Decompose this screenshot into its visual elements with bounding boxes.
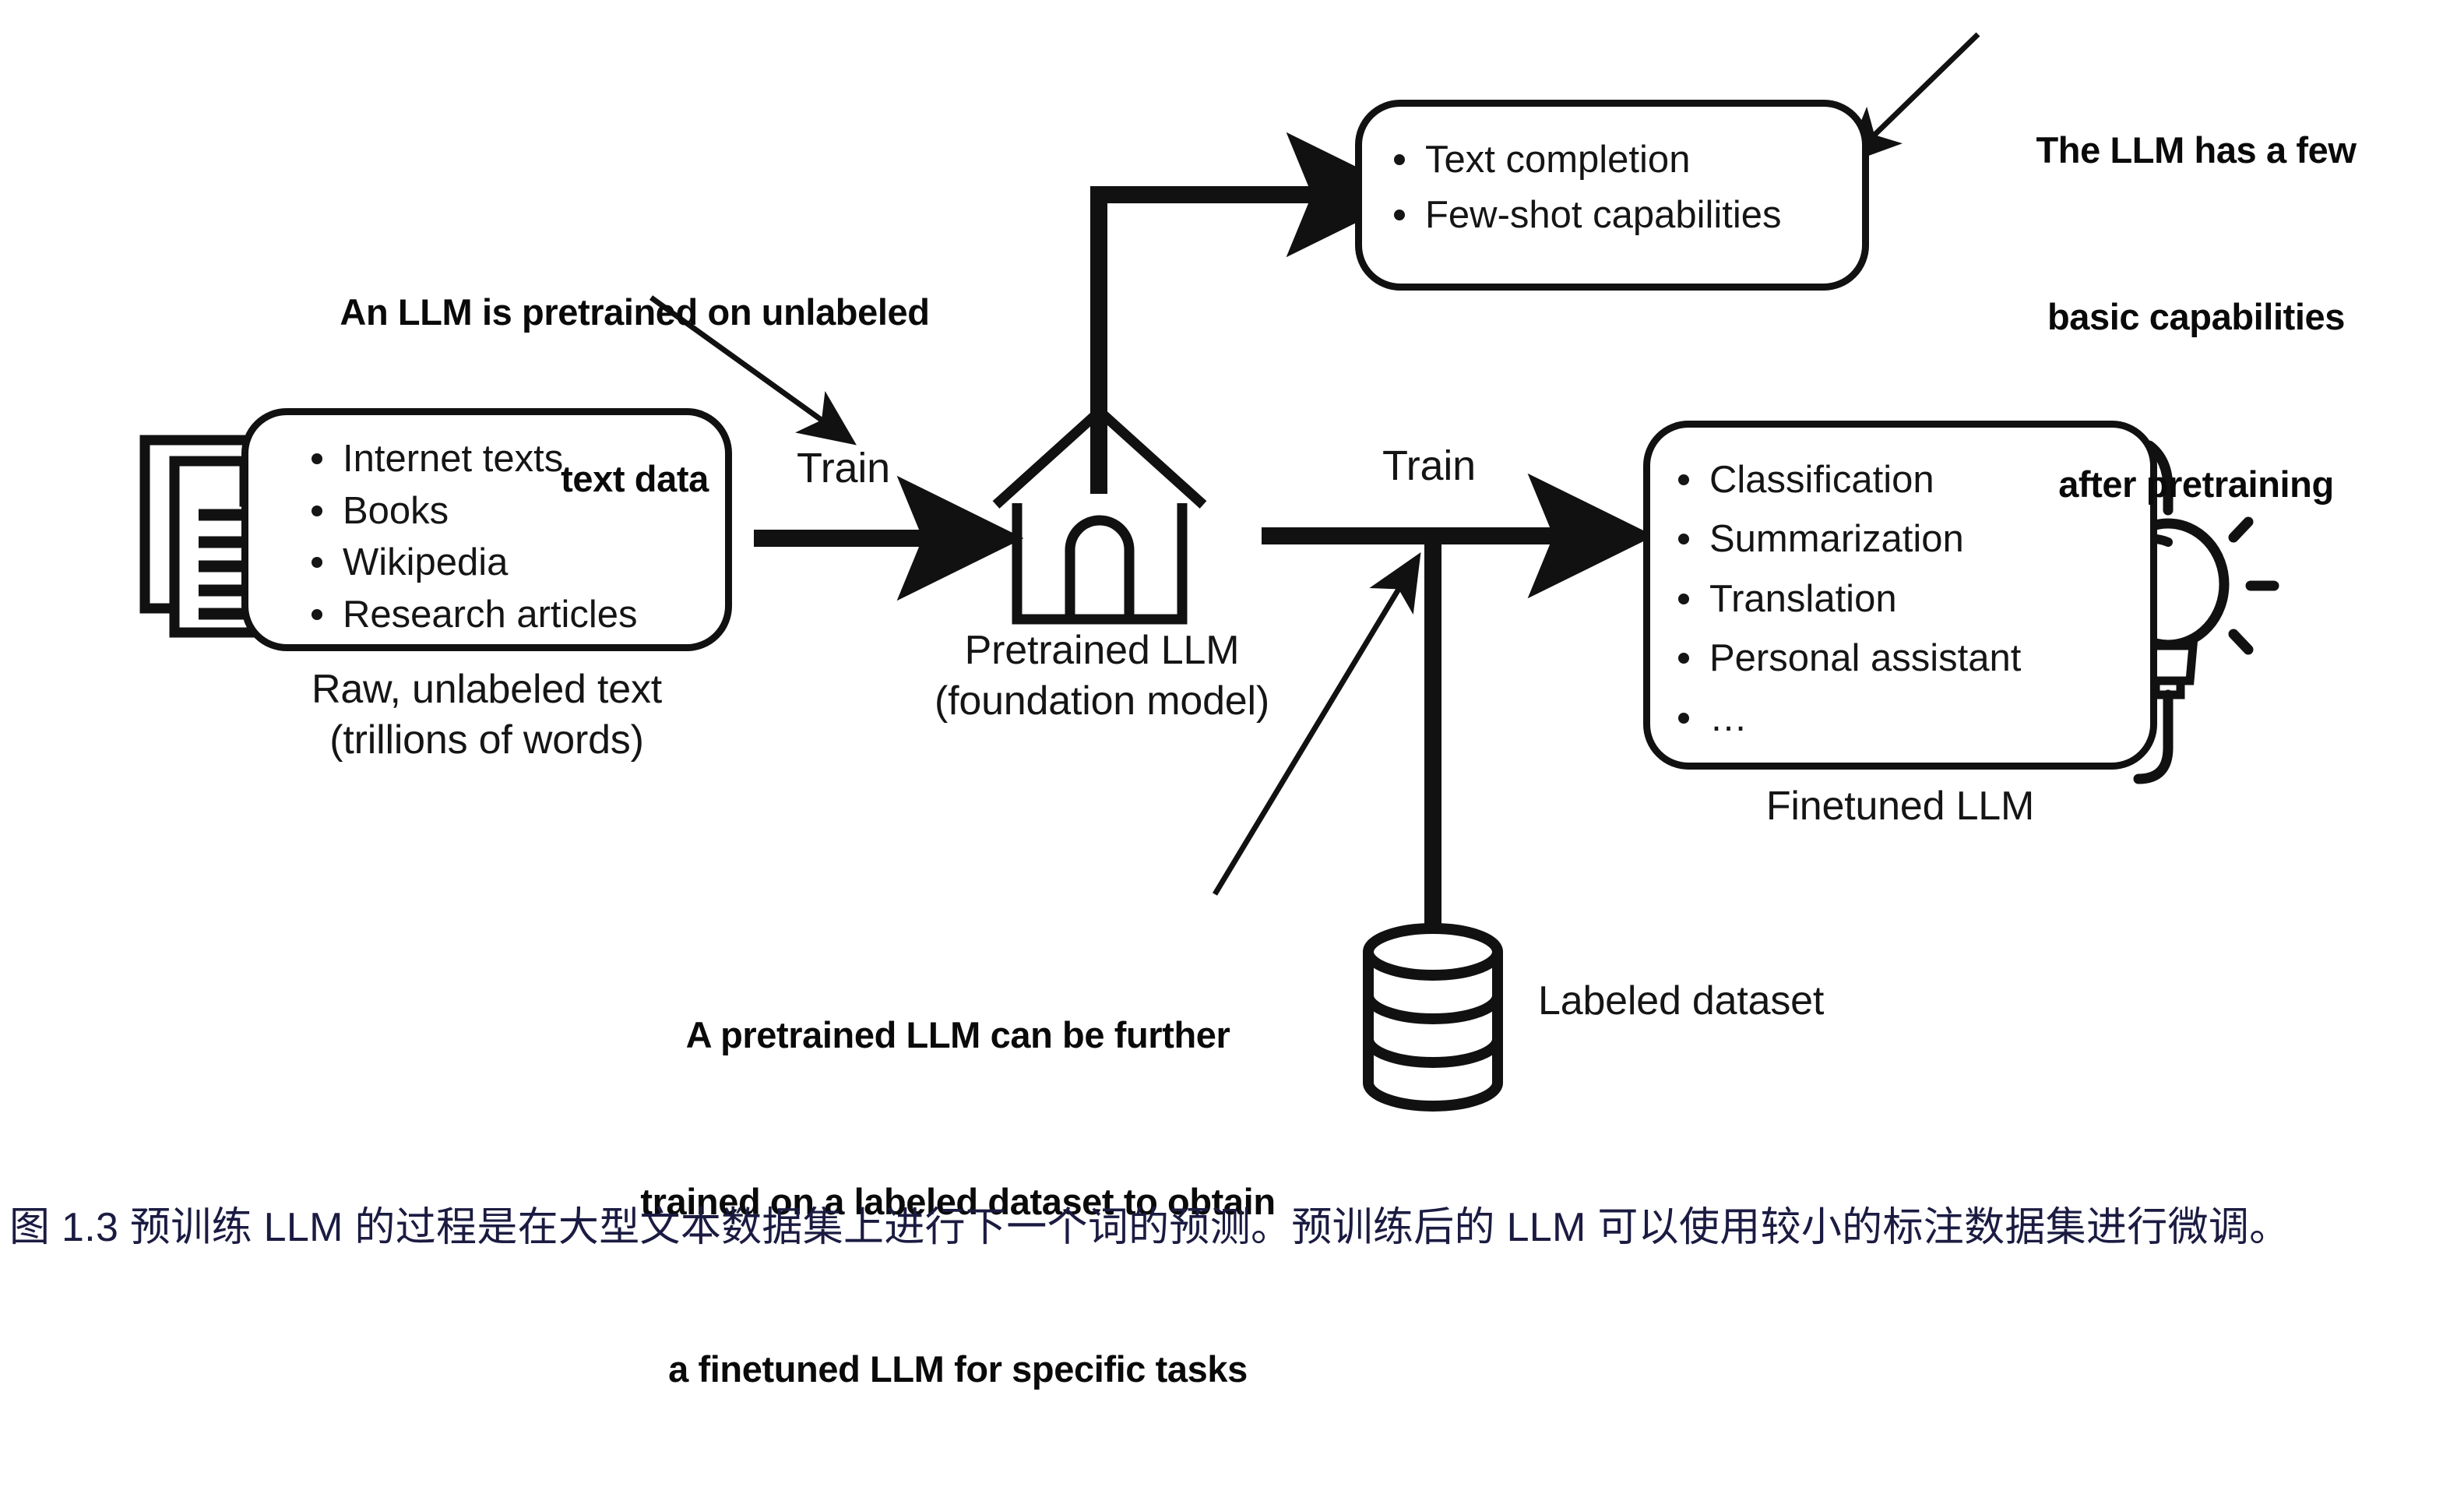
house-icon: [996, 411, 1203, 619]
list-item-label: Few-shot capabilities: [1425, 188, 1782, 243]
list-item-label: Translation: [1709, 569, 1897, 629]
raw-text-caption-line-1: Raw, unlabeled text: [265, 666, 709, 713]
list-item-label: Classification: [1709, 450, 1934, 509]
bullet-dot-icon: [1678, 594, 1689, 604]
pretrain-callout-line-2: text data: [327, 451, 942, 506]
raw-text-caption-line-2: (trillions of words): [265, 717, 709, 764]
list-item: Text completion: [1394, 132, 1782, 188]
bullet-dot-icon: [1394, 154, 1405, 165]
finetune-callout-line-3: a finetuned LLM for specific tasks: [600, 1341, 1316, 1397]
list-item-label: Text completion: [1425, 132, 1690, 188]
bullet-dot-icon: [1678, 653, 1689, 664]
train-label-2: Train: [1339, 442, 1519, 492]
capabilities-callout-line-3: after pretraining: [1994, 456, 2399, 512]
base-capabilities-item-list: Text completion Few-shot capabilities: [1394, 132, 1782, 243]
bullet-dot-icon: [312, 557, 322, 568]
list-item: Translation: [1678, 569, 2021, 629]
bullet-dot-icon: [1678, 474, 1689, 485]
bullet-dot-icon: [312, 506, 322, 516]
bullet-dot-icon: [312, 609, 322, 620]
list-item: …: [1678, 689, 2021, 748]
bullet-dot-icon: [1678, 713, 1689, 724]
finetune-callout-line-1: A pretrained LLM can be further: [600, 1007, 1316, 1062]
list-item: Summarization: [1678, 509, 2021, 569]
labeled-dataset-caption: Labeled dataset: [1538, 978, 1824, 1025]
database-cylinder-icon: [1368, 928, 1498, 1106]
pretrain-callout: An LLM is pretrained on unlabeled text d…: [327, 173, 942, 618]
figure-canvas: Internet texts Books Wikipedia Research …: [0, 0, 2464, 1343]
list-item-label: …: [1709, 689, 1748, 748]
pretrained-llm-caption-line-2: (foundation model): [892, 678, 1312, 725]
pretrained-to-capabilities-connector: [1099, 195, 1324, 494]
list-item-label: Personal assistant: [1709, 629, 2021, 688]
list-item: Personal assistant: [1678, 629, 2021, 688]
list-item: Classification: [1678, 450, 2021, 509]
bullet-dot-icon: [312, 453, 322, 464]
list-item: Few-shot capabilities: [1394, 188, 1782, 243]
bullet-dot-icon: [1678, 534, 1689, 544]
figure-caption: 图 1.3 预训练 LLM 的过程是在大型文本数据集上进行下一个词的预测。预训练…: [9, 1200, 2431, 1257]
list-item-label: Summarization: [1709, 509, 1964, 569]
finetuned-llm-item-list: Classification Summarization Translation…: [1678, 450, 2021, 748]
pretrain-callout-line-1: An LLM is pretrained on unlabeled: [327, 284, 942, 340]
capabilities-callout: The LLM has a few basic capabilities aft…: [1994, 11, 2399, 623]
capabilities-callout-line-2: basic capabilities: [1994, 289, 2399, 344]
bullet-dot-icon: [1394, 210, 1405, 220]
capabilities-callout-pointer-arrow: [1869, 34, 1978, 140]
capabilities-callout-line-1: The LLM has a few: [1994, 122, 2399, 178]
finetuned-llm-caption: Finetuned LLM: [1643, 783, 2157, 830]
pretrained-llm-caption-line-1: Pretrained LLM: [892, 627, 1312, 675]
